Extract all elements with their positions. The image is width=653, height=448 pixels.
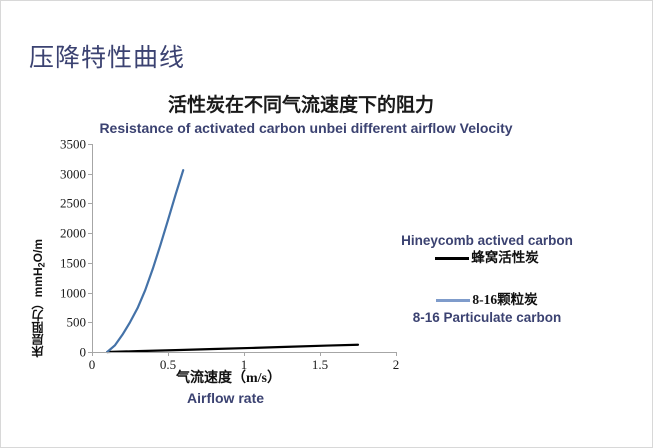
- y-tick-mark: [88, 293, 92, 294]
- legend-entry-particulate: 8-16颗粒炭 8-16 Particulate carbon: [377, 291, 597, 326]
- series-line-particulate-carbon: [107, 170, 183, 352]
- legend-entry-honeycomb: Hineycomb actived carbon 蜂窝活性炭: [377, 232, 597, 267]
- x-tick-mark: [396, 352, 397, 356]
- x-tick-mark: [244, 352, 245, 356]
- y-axis-title-subscript: 2: [36, 262, 46, 267]
- x-axis-title-chinese: 气流速度（m/s）: [176, 370, 281, 388]
- y-tick-label: 1000: [60, 286, 86, 299]
- legend-row-honeycomb: 蜂窝活性炭: [377, 249, 597, 267]
- x-tick-label: 1.5: [312, 358, 328, 371]
- y-tick-mark: [88, 203, 92, 204]
- x-tick-label: 2: [393, 358, 400, 371]
- slide-canvas: 压降特性曲线 活性炭在不同气流速度下的阻力 Resistance of acti…: [0, 0, 653, 448]
- y-tick-mark: [88, 233, 92, 234]
- y-tick-mark: [88, 174, 92, 175]
- legend-label-honeycomb-chinese: 蜂窝活性炭: [471, 249, 539, 267]
- x-tick-mark: [92, 352, 93, 356]
- series-line-honeycomb-carbon: [107, 345, 358, 352]
- y-tick-mark: [88, 322, 92, 323]
- y-axis-title-main: 床层阻力）mmH: [31, 267, 45, 357]
- y-tick-label: 3500: [60, 138, 86, 151]
- legend-label-particulate-english: 8-16 Particulate carbon: [377, 309, 597, 326]
- plot-area: 0500100015002000250030003500 00.511.52: [92, 144, 396, 352]
- legend-row-particulate: 8-16颗粒炭: [377, 291, 597, 309]
- y-tick-label: 1500: [60, 256, 86, 269]
- chart-legend: Hineycomb actived carbon 蜂窝活性炭 8-16颗粒炭 8…: [377, 232, 597, 332]
- y-tick-label: 2000: [60, 227, 86, 240]
- y-tick-label: 2500: [60, 197, 86, 210]
- legend-swatch-particulate: [436, 299, 470, 302]
- y-tick-label: 3000: [60, 167, 86, 180]
- legend-swatch-honeycomb: [435, 257, 469, 260]
- x-tick-label: 0.5: [160, 358, 176, 371]
- chart-subtitle-english: Resistance of activated carbon unbei dif…: [1, 119, 611, 137]
- y-tick-label: 500: [67, 316, 87, 329]
- y-tick-mark: [88, 144, 92, 145]
- chart-container: 活性炭在不同气流速度下的阻力 Resistance of activated c…: [1, 89, 653, 439]
- y-tick-label: 0: [80, 346, 87, 359]
- x-tick-label: 0: [89, 358, 96, 371]
- y-tick-mark: [88, 263, 92, 264]
- y-axis-title-tail: O/m: [31, 239, 45, 262]
- legend-label-honeycomb-english: Hineycomb actived carbon: [377, 232, 597, 249]
- x-axis-title-english: Airflow rate: [187, 389, 264, 407]
- page-title: 压降特性曲线: [29, 43, 185, 73]
- legend-label-particulate-chinese: 8-16颗粒炭: [472, 291, 537, 309]
- chart-title-chinese: 活性炭在不同气流速度下的阻力: [1, 94, 601, 118]
- x-tick-mark: [320, 352, 321, 356]
- y-axis-title: 床层阻力）mmH2O/m: [31, 239, 45, 357]
- data-series-layer: [92, 144, 397, 353]
- y-axis-line: [92, 144, 93, 353]
- x-tick-mark: [168, 352, 169, 356]
